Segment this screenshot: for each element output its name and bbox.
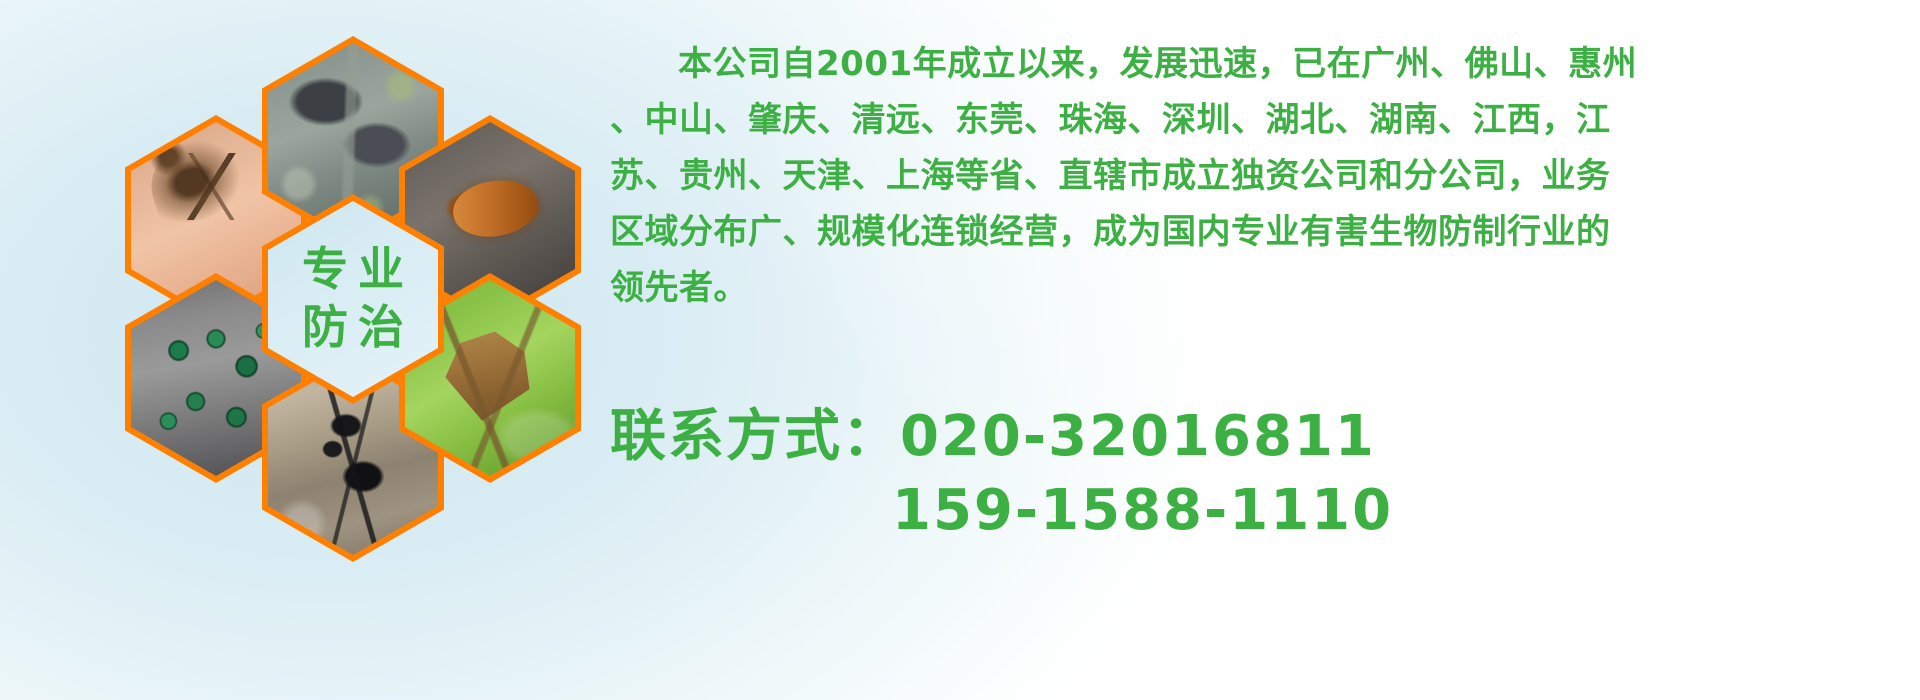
description-line-1: 本公司自2001年成立以来，发展迅速，已在广州、佛山、惠州 bbox=[610, 36, 1900, 92]
description-line-3: 苏、贵州、天津、上海等省、直辖市成立独资公司和分公司，业务 bbox=[610, 148, 1900, 204]
center-label-line1: 专业 bbox=[292, 244, 414, 296]
promo-banner: 专业 防治 本公司自2001年成立以来，发展迅速，已在广州、佛山、惠州 、中山、… bbox=[0, 0, 1920, 700]
contact-block: 联系方式：020-32016811 159-1588-1110 bbox=[610, 400, 1393, 548]
description-line-4: 区域分布广、规模化连锁经营，成为国内专业有害生物防制行业的 bbox=[610, 204, 1900, 260]
description-line-5: 领先者。 bbox=[610, 260, 1900, 316]
contact-primary-phone[interactable]: 联系方式：020-32016811 bbox=[610, 400, 1393, 474]
contact-secondary-phone[interactable]: 159-1588-1110 bbox=[610, 474, 1393, 548]
description-line-2: 、中山、肇庆、清远、东莞、珠海、深圳、湖北、湖南、江西，江 bbox=[610, 92, 1900, 148]
company-description: 本公司自2001年成立以来，发展迅速，已在广州、佛山、惠州 、中山、肇庆、清远、… bbox=[610, 36, 1900, 316]
center-label-line2: 防治 bbox=[292, 302, 414, 354]
honeycomb-gallery: 专业 防治 bbox=[95, 10, 615, 590]
